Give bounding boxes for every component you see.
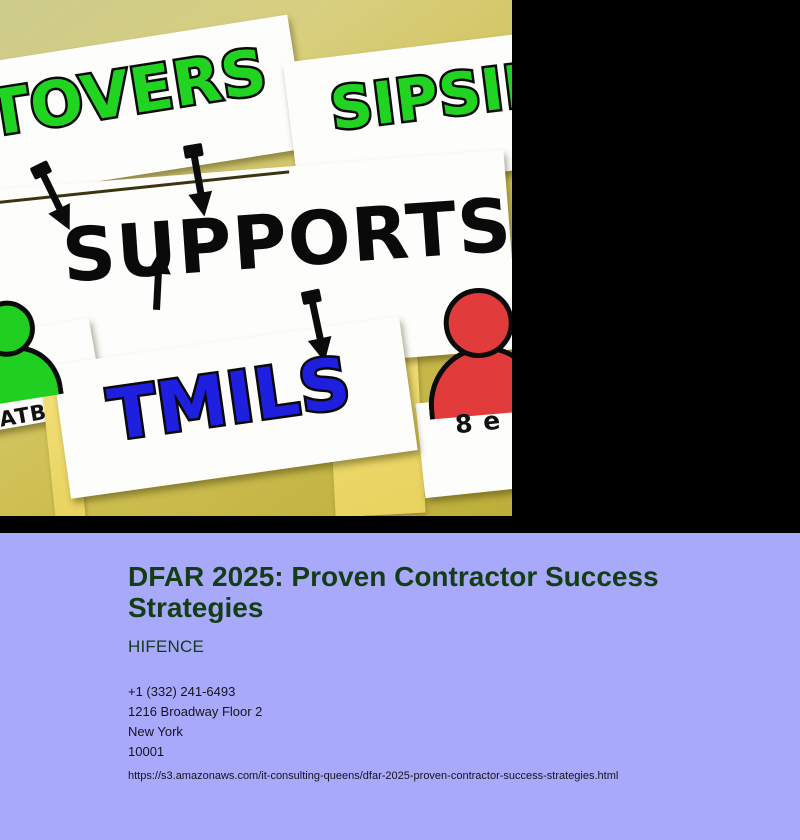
contact-block: +1 (332) 241-6493 1216 Broadway Floor 2 … bbox=[128, 682, 760, 762]
brand-name: HIFENCE bbox=[128, 637, 760, 657]
contact-city: New York bbox=[128, 722, 760, 742]
person-red-head bbox=[441, 285, 512, 361]
person-icon-red bbox=[423, 284, 512, 415]
contact-postal-code: 10001 bbox=[128, 742, 760, 762]
hero-image: TOVERS SIPSID SUPPORTS TMILS EATB 8 e bbox=[0, 0, 512, 516]
source-url-link[interactable]: https://s3.amazonaws.com/it-consulting-q… bbox=[128, 769, 760, 783]
page-title: DFAR 2025: Proven Contractor Success Str… bbox=[128, 561, 728, 624]
hero-scene: TOVERS SIPSID SUPPORTS TMILS EATB 8 e bbox=[0, 0, 512, 516]
contact-phone: +1 (332) 241-6493 bbox=[128, 682, 760, 702]
page-root: TOVERS SIPSID SUPPORTS TMILS EATB 8 e DF… bbox=[0, 0, 800, 840]
info-content: DFAR 2025: Proven Contractor Success Str… bbox=[128, 561, 760, 783]
sign-text-8e: 8 e bbox=[454, 406, 503, 440]
contact-street: 1216 Broadway Floor 2 bbox=[128, 702, 760, 722]
info-panel: DFAR 2025: Proven Contractor Success Str… bbox=[0, 533, 800, 840]
